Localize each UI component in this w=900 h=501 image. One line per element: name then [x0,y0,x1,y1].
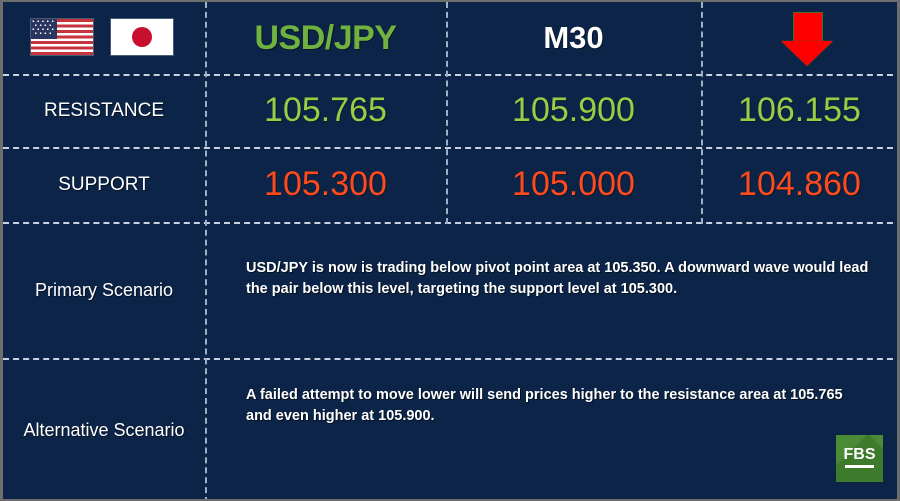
row-label-support: SUPPORT [3,147,205,222]
currency-pair-title: USD/JPY [205,2,446,74]
support-value-3: 104.860 [738,165,861,204]
support-label: SUPPORT [58,174,150,196]
support-value-2: 105.000 [512,165,635,204]
us-flag-icon [31,19,93,55]
resistance-value-3: 106.155 [738,91,861,130]
resistance-label: RESISTANCE [44,100,164,122]
alternative-scenario-text: A failed attempt to move lower will send… [246,385,846,427]
table-cell-support-2: 105.000 [446,147,701,222]
table-cell-resistance-1: 105.765 [205,74,446,147]
table-cell-resistance-2: 105.900 [446,74,701,147]
fbs-logo: FBS [836,435,883,482]
support-value-1: 105.300 [264,165,387,204]
table-cell-resistance-3: 106.155 [701,74,898,147]
timeframe-label: M30 [543,20,603,56]
table-cell-support-3: 104.860 [701,147,898,222]
primary-scenario-label: Primary Scenario [35,279,173,302]
alternative-scenario-label: Alternative Scenario [23,419,184,442]
resistance-value-2: 105.900 [512,91,635,130]
row-label-alternative-scenario: Alternative Scenario [3,358,205,501]
table-cell-support-1: 105.300 [205,147,446,222]
row-label-primary-scenario: Primary Scenario [3,222,205,358]
forex-analysis-board: USD/JPY M30 RESISTANCE 105.765 105.900 1… [0,0,900,501]
timeframe-title: M30 [446,2,701,74]
fbs-logo-text: FBS [836,446,883,464]
japan-flag-icon [111,19,173,55]
currency-pair-label: USD/JPY [255,19,397,58]
arrow-down-icon [781,12,833,66]
primary-scenario-text: USD/JPY is now is trading below pivot po… [246,258,886,300]
row-label-resistance: RESISTANCE [3,74,205,147]
flag-pair [31,19,173,55]
resistance-value-1: 105.765 [264,91,387,130]
fbs-logo-underline [845,465,874,468]
